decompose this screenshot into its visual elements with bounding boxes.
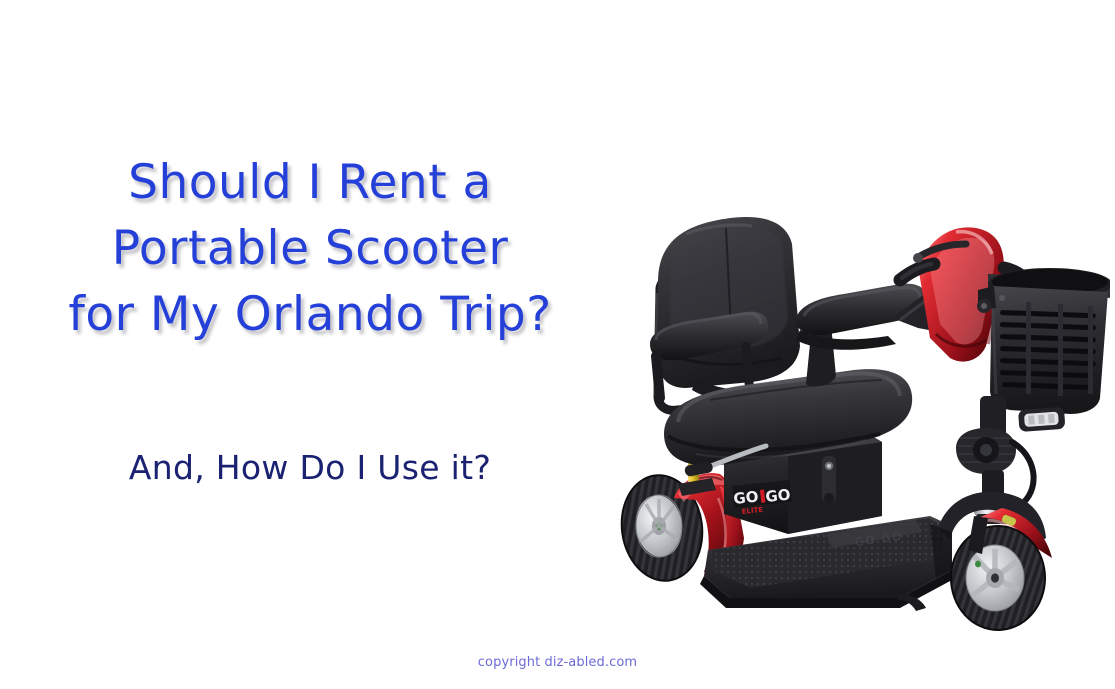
svg-text:GO: GO: [733, 487, 760, 508]
page-subtitle: And, How Do I Use it?: [0, 448, 620, 488]
headline-line-1: Should I Rent a: [0, 150, 620, 216]
svg-text:GO: GO: [765, 485, 792, 506]
box-latch: [822, 456, 836, 503]
page-title: Should I Rent a Portable Scooter for My …: [0, 150, 620, 348]
headline-line-3: for My Orlando Trip?: [0, 282, 620, 348]
promo-graphic-canvas: Should I Rent a Portable Scooter for My …: [0, 0, 1115, 689]
product-image-mobility-scooter: GO GO: [600, 198, 1110, 643]
front-basket: [977, 268, 1110, 414]
copyright-notice: copyright diz-abled.com: [0, 655, 1115, 670]
headlight: [1018, 407, 1065, 432]
seat-back: [658, 217, 800, 404]
headline-line-2: Portable Scooter: [0, 216, 620, 282]
